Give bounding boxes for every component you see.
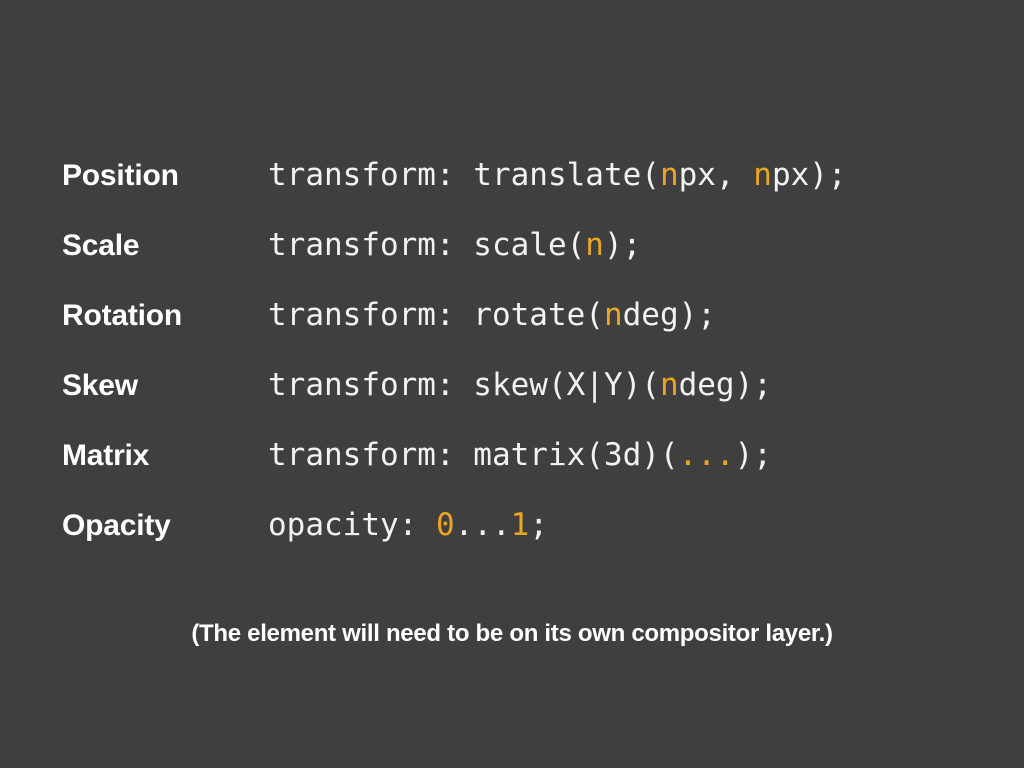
code-token-literal: transform: translate(: [268, 157, 660, 193]
property-row: Rotationtransform: rotate(ndeg);: [62, 280, 982, 350]
property-label: Opacity: [62, 491, 268, 561]
code-token-literal: deg);: [679, 367, 772, 403]
slide-canvas: Positiontransform: translate(npx, npx);S…: [0, 0, 1024, 768]
css-property-table: Positiontransform: translate(npx, npx);S…: [62, 140, 982, 560]
code-token-literal: transform: skew(X|Y)(: [268, 367, 660, 403]
property-label: Position: [62, 141, 268, 211]
property-label: Scale: [62, 211, 268, 281]
code-token-literal: transform: scale(: [268, 227, 585, 263]
code-token-literal: transform: matrix(3d)(: [268, 437, 679, 473]
property-row: Positiontransform: translate(npx, npx);: [62, 140, 982, 210]
property-code: transform: skew(X|Y)(ndeg);: [268, 350, 982, 420]
property-code: transform: rotate(ndeg);: [268, 280, 982, 350]
property-code: opacity: 0...1;: [268, 490, 982, 560]
code-token-literal: );: [604, 227, 641, 263]
code-token-variable: n: [660, 367, 679, 403]
code-token-literal: ;: [529, 507, 548, 543]
property-label: Rotation: [62, 281, 268, 351]
property-row: Matrixtransform: matrix(3d)(...);: [62, 420, 982, 490]
property-row: Scaletransform: scale(n);: [62, 210, 982, 280]
code-token-literal: ...: [455, 507, 511, 543]
code-token-variable: n: [585, 227, 604, 263]
property-label: Skew: [62, 351, 268, 421]
property-code: transform: translate(npx, npx);: [268, 140, 982, 210]
code-token-literal: px,: [679, 157, 754, 193]
code-token-literal: transform: rotate(: [268, 297, 604, 333]
code-token-variable: ...: [679, 437, 735, 473]
footnote-text: (The element will need to be on its own …: [0, 620, 1024, 648]
code-token-variable: 0: [436, 507, 455, 543]
property-row: Skewtransform: skew(X|Y)(ndeg);: [62, 350, 982, 420]
property-code: transform: matrix(3d)(...);: [268, 420, 982, 490]
code-token-variable: n: [660, 157, 679, 193]
property-code: transform: scale(n);: [268, 210, 982, 280]
code-token-literal: px);: [772, 157, 847, 193]
code-token-literal: opacity:: [268, 507, 436, 543]
code-token-variable: n: [604, 297, 623, 333]
property-label: Matrix: [62, 421, 268, 491]
code-token-variable: n: [753, 157, 772, 193]
property-row: Opacityopacity: 0...1;: [62, 490, 982, 560]
code-token-literal: deg);: [623, 297, 716, 333]
code-token-literal: );: [735, 437, 772, 473]
code-token-variable: 1: [511, 507, 530, 543]
